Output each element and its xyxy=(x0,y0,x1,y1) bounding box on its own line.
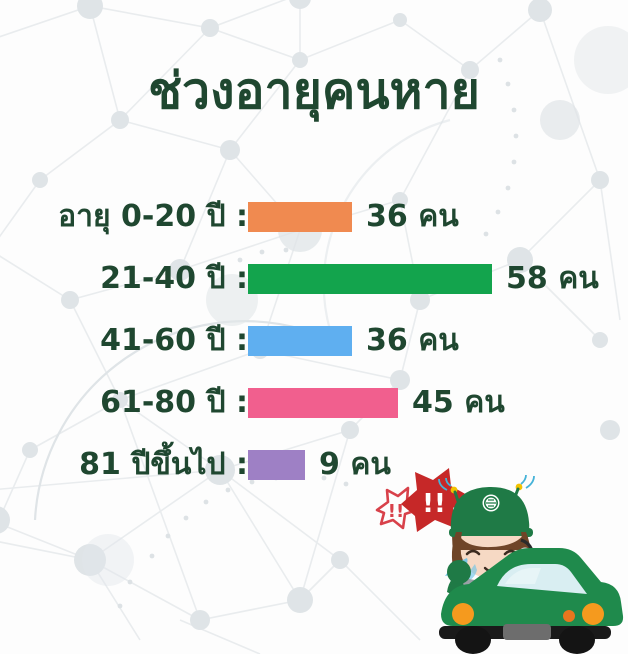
svg-text:!!: !! xyxy=(422,489,446,519)
table-row: อายุ 0-20 ปี : 36 คน xyxy=(0,186,628,248)
hand-left xyxy=(447,560,471,584)
bar-wrap-81-plus xyxy=(248,450,305,480)
bar-61-80 xyxy=(248,388,398,418)
bar-wrap-0-20 xyxy=(248,202,352,232)
infographic-poster: ช่วงอายุคนหาย อายุ 0-20 ปี : 36 คน 21-40… xyxy=(0,0,628,654)
bar-21-40 xyxy=(248,264,492,294)
row-value-0-20: 36 คน xyxy=(366,202,459,232)
antenna-signal-right xyxy=(521,475,534,488)
bar-0-20 xyxy=(248,202,352,232)
mascot-illustration: !! !! xyxy=(355,466,628,654)
table-row: 41-60 ปี : 36 คน xyxy=(0,310,628,372)
bar-wrap-61-80 xyxy=(248,388,398,418)
table-row: 61-80 ปี : 45 คน xyxy=(0,372,628,434)
bar-81-plus xyxy=(248,450,305,480)
bar-wrap-41-60 xyxy=(248,326,352,356)
row-label-81-plus: 81 ปีขึ้นไป : xyxy=(0,450,248,480)
headlight-rear xyxy=(582,603,604,625)
table-row: 21-40 ปี : 58 คน xyxy=(0,248,628,310)
row-value-41-60: 36 คน xyxy=(366,326,459,356)
headlight-front xyxy=(452,603,474,625)
row-label-21-40: 21-40 ปี : xyxy=(0,264,248,294)
row-value-61-80: 45 คน xyxy=(412,388,505,418)
age-range-bar-chart: อายุ 0-20 ปี : 36 คน 21-40 ปี : 58 คน 41… xyxy=(0,186,628,496)
row-value-21-40: 58 คน xyxy=(506,264,599,294)
row-label-41-60: 41-60 ปี : xyxy=(0,326,248,356)
bar-wrap-21-40 xyxy=(248,264,492,294)
page-title: ช่วงอายุคนหาย xyxy=(0,62,628,121)
license-plate xyxy=(503,624,551,640)
row-label-0-20: อายุ 0-20 ปี : xyxy=(0,202,248,232)
wheel-front xyxy=(455,626,491,654)
wheel-rear xyxy=(559,626,595,654)
bar-41-60 xyxy=(248,326,352,356)
row-label-61-80: 61-80 ปี : xyxy=(0,388,248,418)
